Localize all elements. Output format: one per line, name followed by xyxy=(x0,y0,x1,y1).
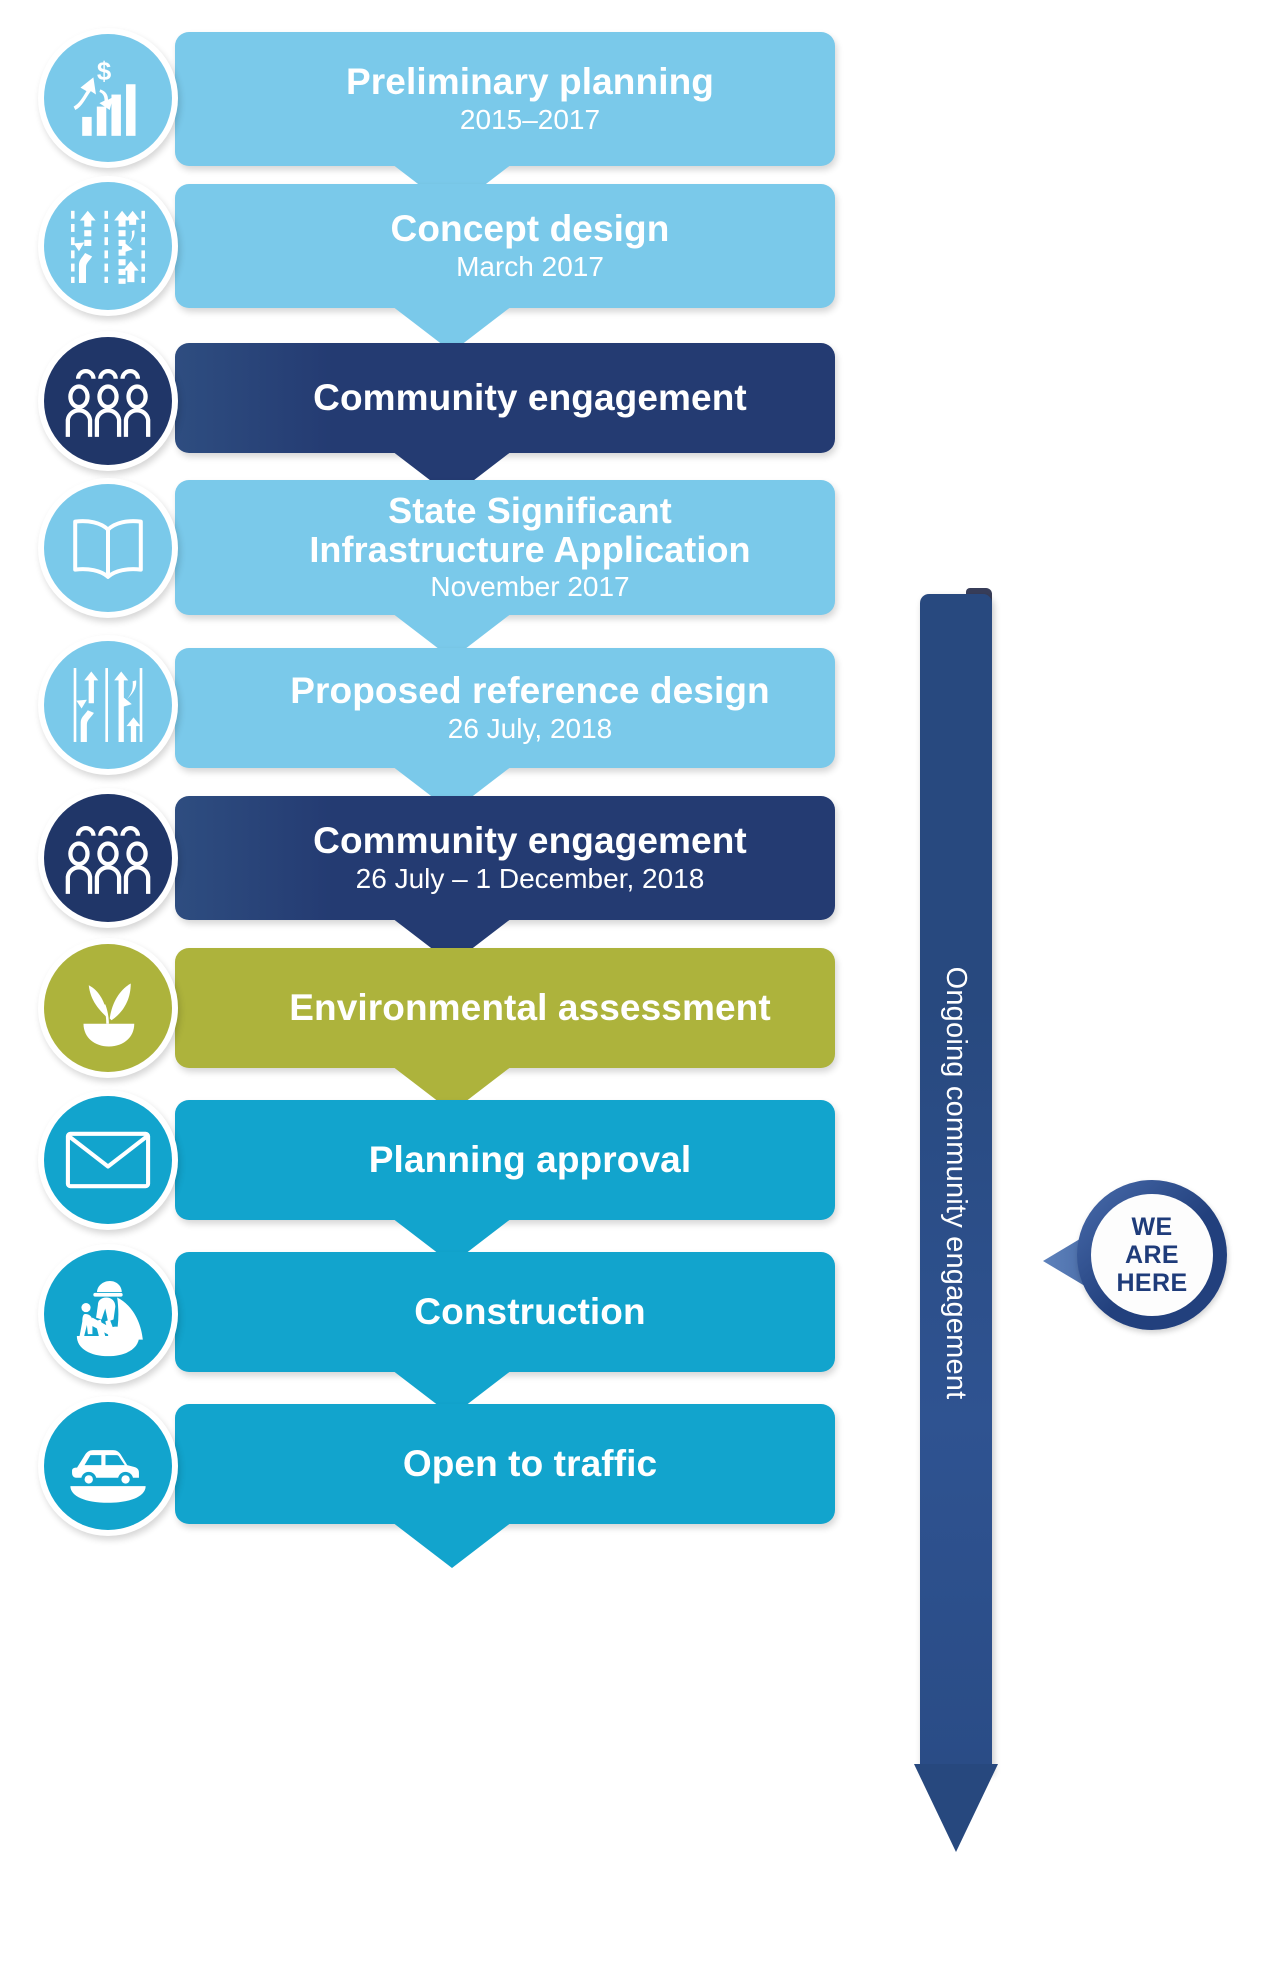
step-title: Community engagement xyxy=(313,378,747,418)
step-date: 26 July, 2018 xyxy=(448,714,613,745)
people-group-icon xyxy=(61,813,155,903)
marker-line-3: HERE xyxy=(1116,1269,1187,1297)
icon-badge-open-to-traffic xyxy=(38,1396,178,1536)
marker-line-1: WE xyxy=(1131,1213,1172,1241)
step-title: State SignificantInfrastructure Applicat… xyxy=(309,492,750,570)
construction-worker-icon xyxy=(62,1270,154,1358)
we-are-here-marker[interactable]: WE ARE HERE xyxy=(1043,1166,1233,1356)
icon-badge-proposed-reference-design xyxy=(38,635,178,775)
step-date: November 2017 xyxy=(430,572,629,603)
car-road-icon xyxy=(62,1426,154,1506)
people-group-icon xyxy=(61,356,155,446)
step-title: Construction xyxy=(414,1292,645,1332)
icon-badge-planning-approval xyxy=(38,1090,178,1230)
step-title: Preliminary planning xyxy=(346,62,714,102)
icon-badge-ssi-application xyxy=(38,478,178,618)
icon-badge-construction xyxy=(38,1244,178,1384)
plant-leaf-icon xyxy=(64,966,152,1050)
marker-inner: WE ARE HERE xyxy=(1091,1194,1213,1316)
step-date: 26 July – 1 December, 2018 xyxy=(356,864,705,895)
step-bar-community-engagement-2[interactable]: Community engagement 26 July – 1 Decembe… xyxy=(175,796,835,920)
svg-text:$: $ xyxy=(97,58,111,86)
icon-badge-community-engagement-2 xyxy=(38,788,178,928)
step-bar-community-engagement-1[interactable]: Community engagement xyxy=(175,343,835,453)
step-title: Planning approval xyxy=(369,1140,691,1180)
step-tail-chevron xyxy=(392,1522,512,1568)
road-lanes-icon xyxy=(64,202,152,290)
envelope-icon xyxy=(63,1125,153,1195)
icon-badge-environmental-assessment xyxy=(38,938,178,1078)
marker-line-2: ARE xyxy=(1125,1241,1179,1269)
icon-badge-concept-design xyxy=(38,176,178,316)
step-title: Open to traffic xyxy=(403,1444,657,1484)
icon-badge-community-engagement-1 xyxy=(38,331,178,471)
step-bar-planning-approval[interactable]: Planning approval xyxy=(175,1100,835,1220)
step-date: 2015–2017 xyxy=(460,105,600,136)
arrow-head-icon xyxy=(914,1764,998,1852)
step-bar-preliminary-planning[interactable]: Preliminary planning 2015–2017 xyxy=(175,32,835,166)
step-bar-open-to-traffic[interactable]: Open to traffic xyxy=(175,1404,835,1524)
project-timeline-infographic: Preliminary planning 2015–2017 $ Concept… xyxy=(0,0,1266,1980)
step-bar-ssi-application[interactable]: State SignificantInfrastructure Applicat… xyxy=(175,480,835,615)
ongoing-community-engagement-arrow: Ongoing community engagement xyxy=(920,594,992,1852)
step-date: March 2017 xyxy=(456,252,604,283)
step-title: Proposed reference design xyxy=(290,671,770,711)
step-title: Community engagement xyxy=(313,821,747,861)
marker-ring: WE ARE HERE xyxy=(1077,1180,1227,1330)
step-bar-proposed-reference-design[interactable]: Proposed reference design 26 July, 2018 xyxy=(175,648,835,768)
open-book-icon xyxy=(64,509,152,587)
road-design-icon xyxy=(64,661,152,749)
growth-chart-icon: $ xyxy=(65,55,151,141)
icon-badge-preliminary-planning: $ xyxy=(38,28,178,168)
ongoing-label: Ongoing community engagement xyxy=(920,594,992,1772)
step-title: Concept design xyxy=(391,209,670,249)
step-bar-construction[interactable]: Construction xyxy=(175,1252,835,1372)
step-bar-concept-design[interactable]: Concept design March 2017 xyxy=(175,184,835,308)
step-title: Environmental assessment xyxy=(289,988,771,1028)
step-bar-environmental-assessment[interactable]: Environmental assessment xyxy=(175,948,835,1068)
